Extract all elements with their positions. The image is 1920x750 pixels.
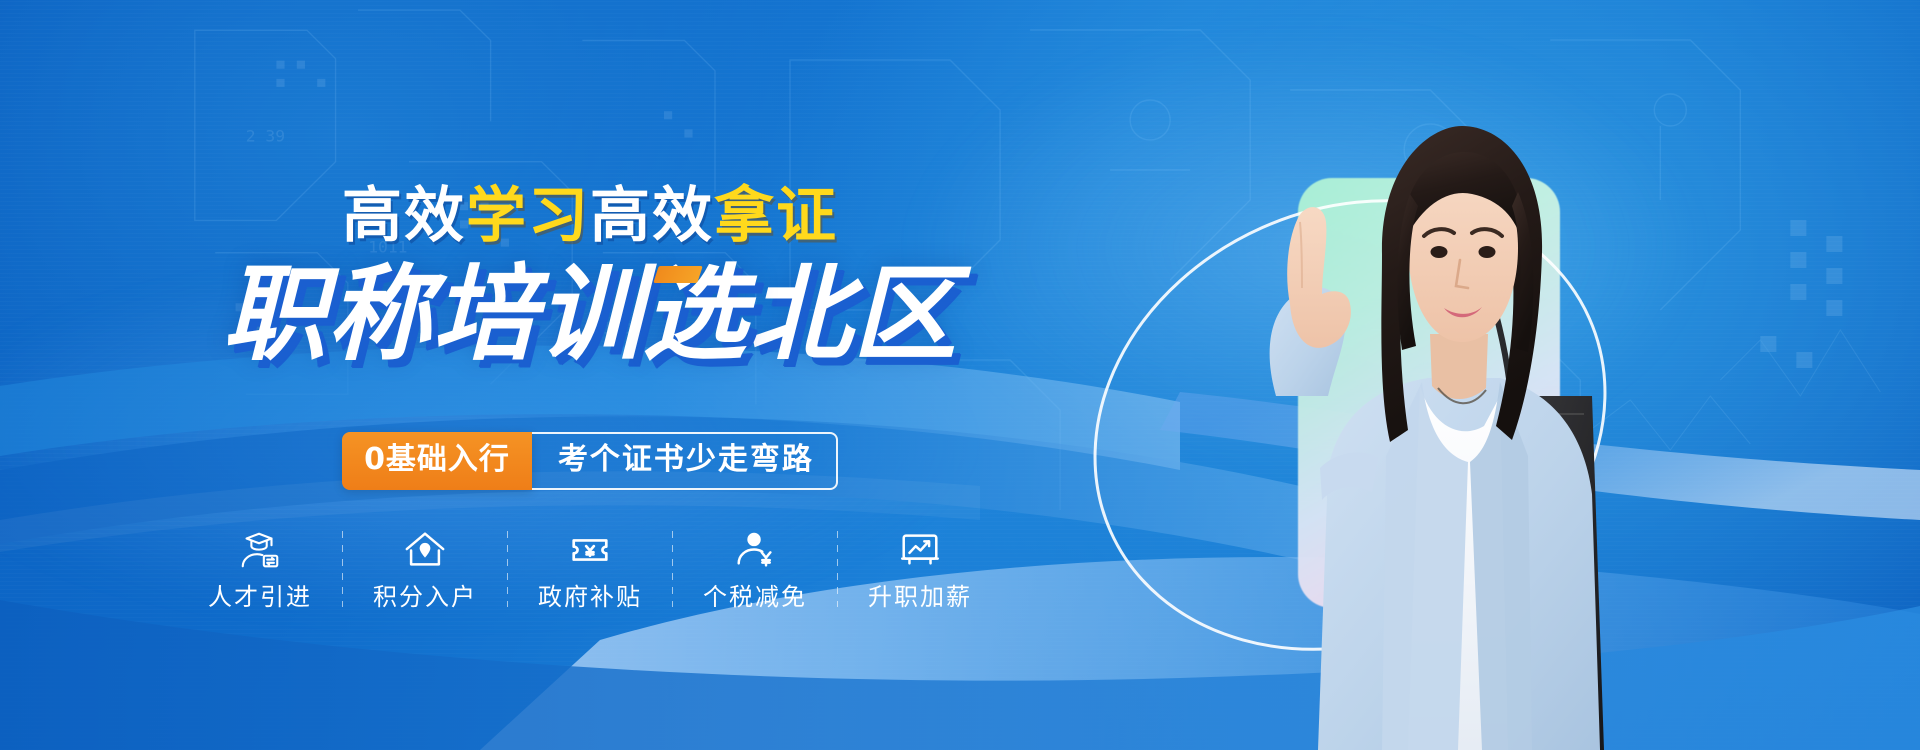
- graduate-person-icon: [237, 527, 283, 573]
- headline-seg-3: 高效: [590, 181, 714, 251]
- feature-item-subsidy[interactable]: 政府补贴: [508, 527, 672, 609]
- headline-primary-lead: 职称培训: [222, 253, 642, 375]
- feature-item-promotion[interactable]: 升职加薪: [838, 527, 1002, 609]
- subheadline-row: 0基础入行 考个证书少走弯路: [0, 432, 1180, 490]
- feature-item-residency[interactable]: 积分入户: [343, 527, 507, 609]
- feature-row: 人才引进 积分入户: [0, 527, 1180, 609]
- feature-label: 积分入户: [373, 585, 477, 609]
- feature-label: 政府补贴: [538, 585, 642, 609]
- feature-item-talent[interactable]: 人才引进: [178, 527, 342, 609]
- feature-item-tax[interactable]: 个税减免: [673, 527, 837, 609]
- headline-accent-group: 选: [642, 262, 747, 366]
- headline-seg-1: 高效: [342, 181, 466, 251]
- zero-basis-badge[interactable]: 0基础入行: [342, 432, 532, 490]
- feature-divider-2: [507, 531, 508, 607]
- headline-seg-4: 拿证: [714, 181, 838, 251]
- person-yuan-icon: [732, 527, 778, 573]
- copy-block: 高效学习高效拿证 职称培训选北区 0基础入行 考个证书少走弯路: [0, 0, 1180, 750]
- headline-primary-tail: 北区: [748, 253, 958, 375]
- feature-divider-4: [837, 531, 838, 607]
- subheadline-text: 考个证书少走弯路: [532, 432, 838, 490]
- headline-secondary: 高效学习高效拿证: [0, 186, 1180, 246]
- feature-label: 个税减免: [703, 585, 807, 609]
- headline-seg-2: 学习: [466, 181, 590, 251]
- feature-label: 人才引进: [208, 585, 312, 609]
- presenter-photo: [1232, 96, 1662, 750]
- feature-divider-3: [672, 531, 673, 607]
- promo-banner: 1011 0110 2 39: [0, 0, 1920, 750]
- headline-primary: 职称培训选北区: [0, 262, 1180, 366]
- rising-chart-board-icon: [897, 527, 943, 573]
- coupon-yuan-icon: [567, 527, 613, 573]
- home-pin-icon: [402, 527, 448, 573]
- feature-divider-1: [342, 531, 343, 607]
- feature-label: 升职加薪: [868, 585, 972, 609]
- orange-accent-bar: [654, 266, 704, 283]
